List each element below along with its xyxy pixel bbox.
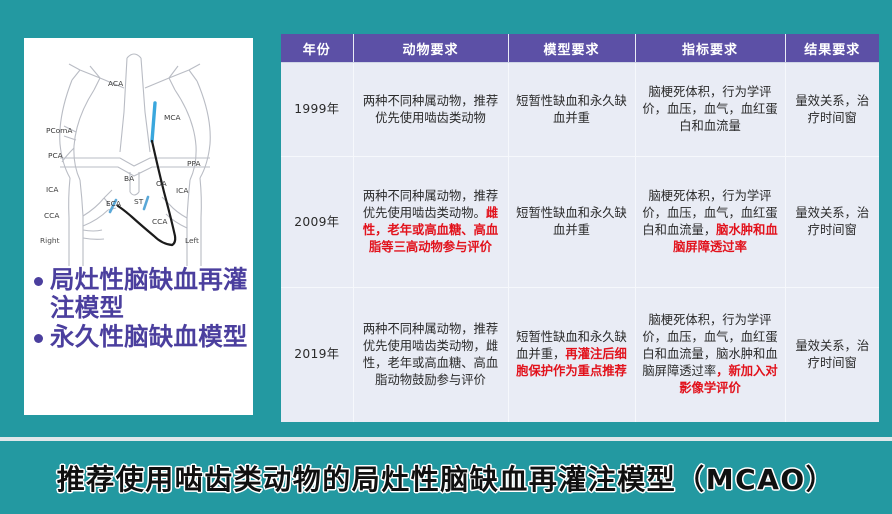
cell-index-1999: 脑梗死体积，行为学评价，血压，血气，血红蛋白和血流量 [635,63,785,157]
left-illustration-card: ACA MCA PComA PCA PPA BA OA ICA ICA ECA … [24,38,253,415]
cell-year-2019: 2019年 [281,288,353,422]
cell-text-plain: 两种不同种属动物，推荐优先使用啮齿类动物。 [363,189,498,220]
column-header-model: 模型要求 [508,34,635,63]
diagram-label-ica-left: ICA [176,186,188,195]
diagram-label-pcoma: PComA [46,126,72,135]
cell-animal-1999: 两种不同种属动物，推荐优先使用啮齿类动物 [353,63,508,157]
column-header-year: 年份 [281,34,353,63]
bullet-label-2: 永久性脑缺血模型 [50,323,253,351]
bullet-item-2: 永久性脑缺血模型 [32,323,253,351]
cell-text-plain: 短暂性缺血和永久缺血并重 [516,206,627,237]
column-header-animal: 动物要求 [353,34,508,63]
cell-result-2009: 量效关系，治疗时间窗 [785,157,879,288]
diagram-label-mca: MCA [164,113,181,122]
table-row: 1999年 两种不同种属动物，推荐优先使用啮齿类动物 短暂性缺血和永久缺血并重 … [281,63,879,157]
table-row: 2019年 两种不同种属动物，推荐优先使用啮齿类动物，雌性，老年或高血糖、高血脂… [281,288,879,422]
diagram-label-pca: PCA [48,151,63,160]
diagram-label-st: ST [134,197,144,206]
requirements-table: 年份 动物要求 模型要求 指标要求 结果要求 1999年 两种不同种属动物，推荐… [281,34,879,422]
cell-index-2009: 脑梗死体积，行为学评价，血压，血气，血红蛋白和血流量，脑水肿和血脑屏障透过率 [635,157,785,288]
cell-animal-2009: 两种不同种属动物，推荐优先使用啮齿类动物。雌性，老年或高血糖、高血脂等三高动物参… [353,157,508,288]
cell-animal-2019: 两种不同种属动物，推荐优先使用啮齿类动物，雌性，老年或高血糖、高血脂动物鼓励参与… [353,288,508,422]
cell-text-plain: 两种不同种属动物，推荐优先使用啮齿类动物 [363,94,498,125]
table-header-row: 年份 动物要求 模型要求 指标要求 结果要求 [281,34,879,63]
cell-model-1999: 短暂性缺血和永久缺血并重 [508,63,635,157]
cell-text-plain: 短暂性缺血和永久缺血并重 [516,94,627,125]
diagram-label-ica-right: ICA [46,185,58,194]
cell-text-plain: 脑梗死体积，行为学评价，血压，血气，血红蛋白和血流量 [642,85,777,133]
bullet-label-1: 局灶性脑缺血再灌注模型 [50,266,253,322]
diagram-label-cca-left: CCA [152,217,167,226]
cell-index-2019: 脑梗死体积，行为学评价，血压，血气，血红蛋白和血流量，脑水肿和血脑屏障透过率，新… [635,288,785,422]
column-header-result: 结果要求 [785,34,879,63]
brain-vasculature-diagram: ACA MCA PComA PCA PPA BA OA ICA ICA ECA … [24,40,253,268]
cell-result-1999: 量效关系，治疗时间窗 [785,63,879,157]
requirements-table-container: 年份 动物要求 模型要求 指标要求 结果要求 1999年 两种不同种属动物，推荐… [281,34,879,417]
bottom-banner: 推荐使用啮齿类动物的局灶性脑缺血再灌注模型（MCAO） [0,441,892,514]
diagram-label-oa: OA [156,179,167,188]
slide-canvas: ACA MCA PComA PCA PPA BA OA ICA ICA ECA … [0,0,892,514]
cell-model-2019: 短暂性缺血和永久缺血并重，再灌注后细胞保护作为重点推荐 [508,288,635,422]
banner-title: 推荐使用啮齿类动物的局灶性脑缺血再灌注模型（MCAO） [57,458,835,498]
bullet-dot-icon [34,334,43,343]
cell-model-2009: 短暂性缺血和永久缺血并重 [508,157,635,288]
cell-year-1999: 1999年 [281,63,353,157]
bullet-dot-icon [34,277,43,286]
diagram-label-ba: BA [124,174,134,183]
diagram-label-ppa: PPA [187,159,201,168]
column-header-index: 指标要求 [635,34,785,63]
cell-year-2009: 2009年 [281,157,353,288]
table-row: 2009年 两种不同种属动物，推荐优先使用啮齿类动物。雌性，老年或高血糖、高血脂… [281,157,879,288]
diagram-label-aca: ACA [108,79,123,88]
model-bullet-list: 局灶性脑缺血再灌注模型 永久性脑缺血模型 [32,266,253,352]
diagram-label-eca: ECA [106,199,121,208]
diagram-label-cca-right: CCA [44,211,59,220]
diagram-label-side-left: Left [185,236,199,245]
cell-result-2019: 量效关系，治疗时间窗 [785,288,879,422]
bullet-item-1: 局灶性脑缺血再灌注模型 [32,266,253,322]
cell-text-plain: 两种不同种属动物，推荐优先使用啮齿类动物，雌性，老年或高血糖、高血脂动物鼓励参与… [363,322,498,387]
diagram-label-side-right: Right [40,236,60,245]
